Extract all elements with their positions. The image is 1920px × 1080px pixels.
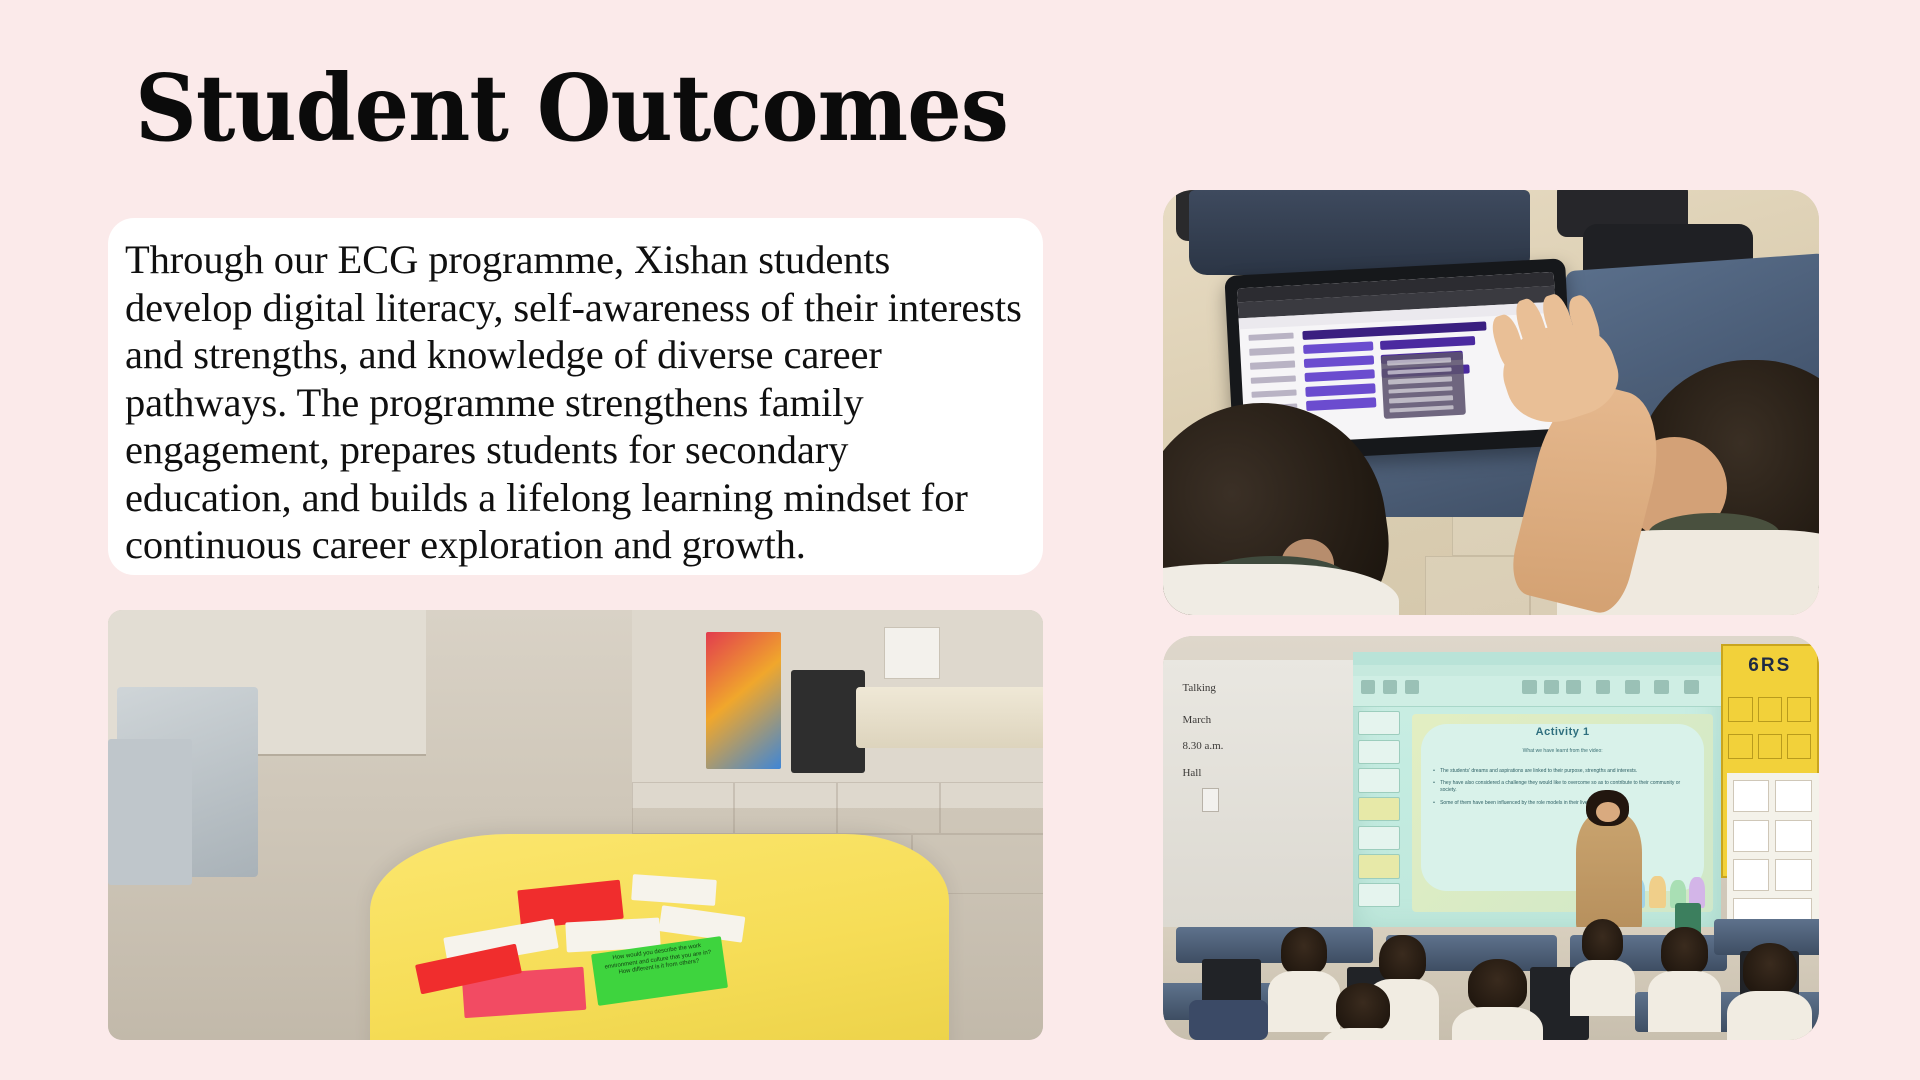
br-student — [1452, 959, 1544, 1040]
br-slide-thumb[interactable] — [1358, 854, 1400, 878]
classroom-scene: Talking March 8.30 a.m. Hall — [1163, 636, 1819, 1040]
bl-card-white — [631, 874, 717, 906]
br-slide-thumb[interactable] — [1358, 883, 1400, 907]
tr-ui-chip — [1306, 397, 1376, 410]
photo-group-activity: How would you describe the work environm… — [108, 610, 1043, 1040]
br-ppt-tabbar — [1353, 665, 1720, 676]
br-slide-subheading: What we have learnt from the video: — [1412, 748, 1713, 754]
br-slide-thumb[interactable] — [1358, 711, 1400, 735]
br-teacher-face — [1596, 802, 1620, 822]
br-student — [1727, 943, 1812, 1040]
tr-ui-chip — [1304, 355, 1374, 368]
bl-floor-tile — [940, 782, 1043, 834]
br-note-line: Talking — [1182, 682, 1215, 694]
tr-ui-chip — [1379, 335, 1475, 349]
tr-row-label — [1251, 375, 1296, 384]
br-backpack — [1189, 1000, 1268, 1040]
br-slide-bullet: The students' dreams and aspirations are… — [1433, 768, 1695, 775]
bl-wall-notice — [884, 627, 940, 679]
br-note-line: March — [1182, 714, 1211, 726]
tablets-scene — [1163, 190, 1819, 615]
br-note-line: 8.30 a.m. — [1182, 740, 1223, 752]
tr-ui-chip — [1303, 341, 1373, 354]
br-slide-thumb[interactable] — [1358, 740, 1400, 764]
bl-trash-bin — [791, 670, 866, 773]
br-whiteboard: Talking March 8.30 a.m. Hall — [1163, 660, 1360, 927]
bl-wall-poster — [706, 632, 781, 770]
bl-equipment-secondary — [108, 739, 192, 885]
br-note-line: Hall — [1182, 767, 1201, 779]
br-student — [1570, 919, 1636, 1016]
bl-floor-tile — [632, 782, 735, 834]
br-class-label: 6RS — [1723, 655, 1817, 677]
tr-row-label — [1251, 389, 1296, 398]
br-slide-thumb[interactable] — [1358, 797, 1400, 821]
br-whiteboard-notice — [1202, 788, 1220, 812]
tr-row-label — [1249, 332, 1294, 341]
br-slide-thumb[interactable] — [1358, 826, 1400, 850]
tr-ui-chip — [1305, 383, 1375, 396]
br-projector-screen: Activity 1 What we have learnt from the … — [1353, 652, 1720, 935]
tr-dropdown-menu[interactable] — [1380, 352, 1466, 419]
tr-ui-chip — [1304, 369, 1374, 382]
br-ppt-titlebar — [1353, 652, 1720, 665]
br-slide-bullets: The students' dreams and aspirations are… — [1433, 768, 1695, 812]
body-paragraph: Through our ECG programme, Xishan studen… — [125, 236, 1023, 569]
br-slide-thumb[interactable] — [1358, 768, 1400, 792]
bl-background-table — [856, 687, 1043, 747]
br-ppt-ribbon-tools — [1353, 676, 1720, 707]
br-ppt-slide-panel — [1355, 709, 1403, 930]
body-text-card: Through our ECG programme, Xishan studen… — [108, 218, 1043, 575]
br-current-slide: Activity 1 What we have learnt from the … — [1412, 714, 1713, 912]
bl-floor-tile — [734, 782, 837, 834]
bl-floor-tile — [837, 782, 940, 834]
br-slide-bullet: Some of them have been influenced by the… — [1433, 800, 1695, 807]
tr-row-label — [1249, 346, 1294, 355]
br-slide-bullet: They have also considered a challenge th… — [1433, 780, 1695, 795]
br-student — [1648, 927, 1720, 1032]
photo-tablets — [1163, 190, 1819, 615]
group-activity-scene: How would you describe the work environm… — [108, 610, 1043, 1040]
tr-row-label — [1250, 360, 1295, 369]
br-teacher-body — [1576, 814, 1642, 935]
photo-classroom-lesson: Talking March 8.30 a.m. Hall — [1163, 636, 1819, 1040]
br-slide-heading: Activity 1 — [1412, 726, 1713, 738]
page-title: Student Outcomes — [135, 62, 1008, 154]
slide-root: Student Outcomes Through our ECG program… — [0, 0, 1920, 1080]
